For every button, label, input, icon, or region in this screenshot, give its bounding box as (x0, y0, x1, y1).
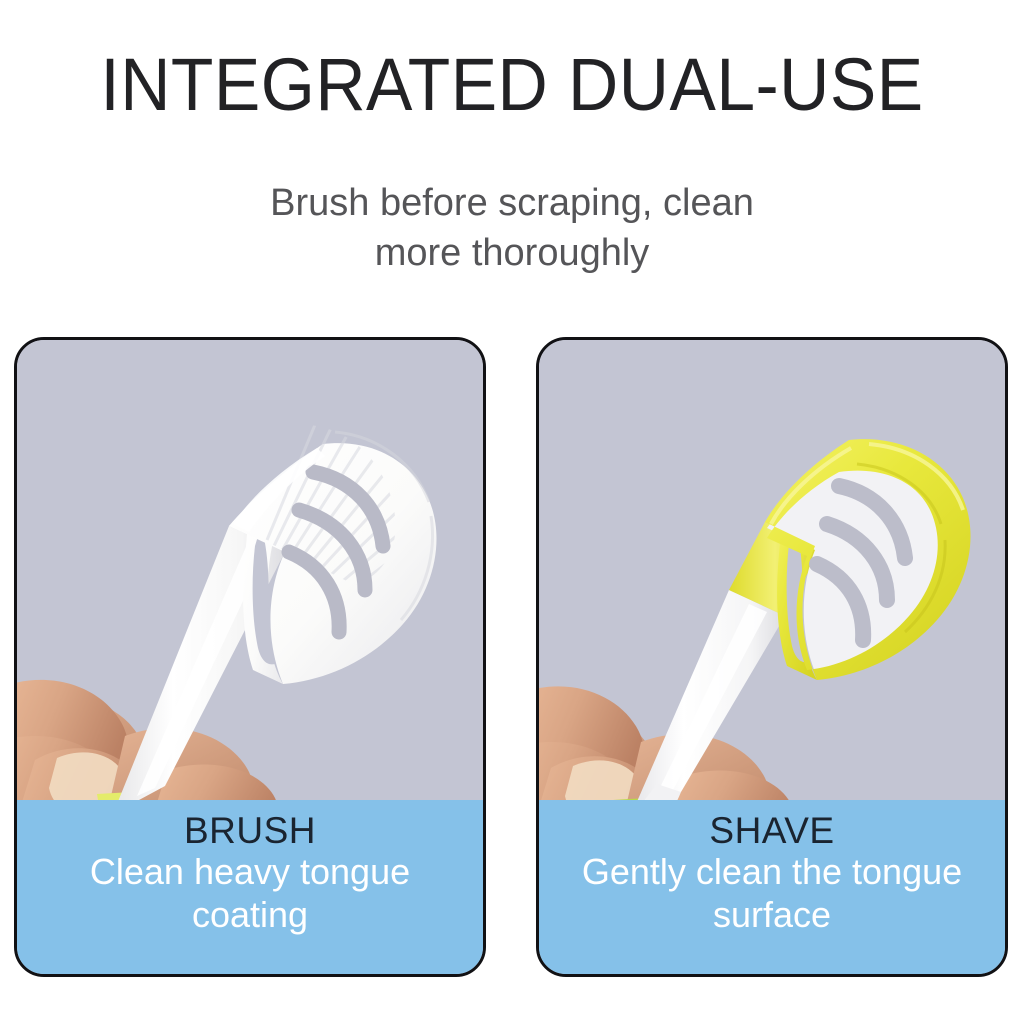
subtitle-line-2: more thoroughly (162, 228, 862, 278)
white-tongue-brush-illustration (17, 340, 483, 800)
brush-caption-desc-line-2: coating (17, 894, 483, 936)
shave-scene (539, 340, 1005, 800)
subtitle-line-1: Brush before scraping, clean (162, 178, 862, 228)
brush-caption-title: BRUSH (17, 810, 483, 851)
shave-caption-desc-line-1: Gently clean the tongue (539, 851, 1005, 893)
header: INTEGRATED DUAL-USE Brush before scrapin… (0, 0, 1024, 320)
shave-caption-desc-line-2: surface (539, 894, 1005, 936)
brush-caption-desc-line-1: Clean heavy tongue (17, 851, 483, 893)
shave-caption: SHAVE Gently clean the tongue surface (539, 800, 1005, 974)
yellow-tongue-scraper-illustration (539, 340, 1005, 800)
shave-caption-title: SHAVE (539, 810, 1005, 851)
page-subtitle: Brush before scraping, clean more thorou… (162, 178, 862, 278)
brush-scene (17, 340, 483, 800)
page-title: INTEGRATED DUAL-USE (31, 48, 994, 122)
panel-shave[interactable]: SHAVE Gently clean the tongue surface (536, 337, 1008, 977)
brush-caption: BRUSH Clean heavy tongue coating (17, 800, 483, 974)
panel-brush[interactable]: BRUSH Clean heavy tongue coating (14, 337, 486, 977)
